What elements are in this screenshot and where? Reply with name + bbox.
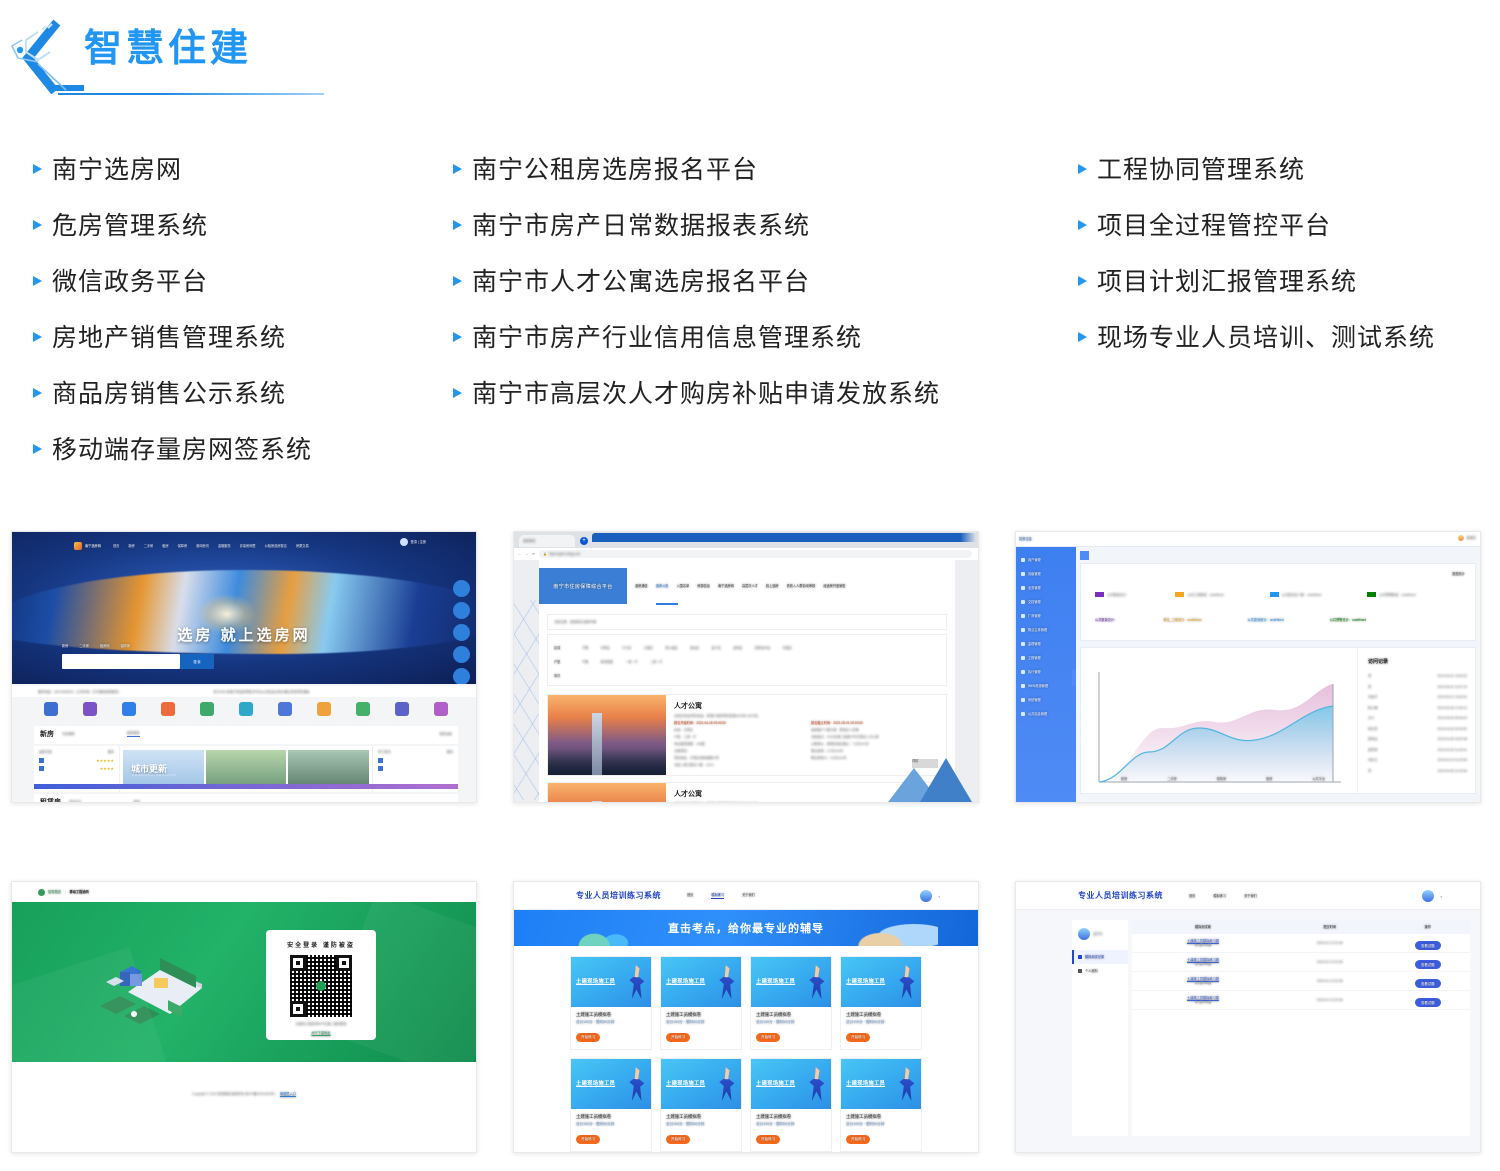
training-nav[interactable]: 首页 模拟练习 关于我们: [687, 893, 755, 899]
filter-option[interactable]: 青秀区: [600, 646, 610, 650]
system-link-label: 项目全过程管控平台: [1097, 206, 1331, 242]
system-link-label: 南宁选房网: [52, 150, 182, 186]
list-item[interactable]: ★★★★: [39, 766, 114, 771]
login-hero: 安全登录 谨防被盗 请使用工程协同APP扫描二维码登录 APP下载地址: [12, 902, 476, 1062]
nav-item[interactable]: 首页: [113, 544, 119, 548]
site-brand: 南宁市住房保障综合平台: [539, 568, 627, 604]
news-item[interactable]: [378, 766, 453, 771]
legend-entry: 公共预警数量：undefined: [1367, 592, 1415, 597]
screenshot-xuanfangwang[interactable]: 南宁选房网 首页 新房 二手房 租房 保障房 新闻资讯 金融服务 存量房网签 公…: [11, 531, 477, 803]
caret-right-icon: [1075, 274, 1097, 288]
nav-item[interactable]: 首页: [1189, 894, 1195, 898]
system-link-xmqgc[interactable]: 项目全过程管控平台: [1075, 196, 1495, 252]
window-controls[interactable]: [592, 533, 976, 542]
record-row: 林天贵2019-04-26 09:16:52: [1368, 724, 1467, 735]
record-name: 刘启平: [1368, 695, 1378, 699]
course-thumb-title: 土建现场施工员: [756, 977, 795, 985]
nav-item[interactable]: 二手房: [144, 544, 154, 548]
area-chart: 新房 二手房 保障房 租房 公共平台: [1081, 648, 1357, 793]
nav-item-active[interactable]: 模拟练习: [711, 893, 724, 899]
filter-option[interactable]: 邕宁区: [711, 646, 721, 650]
legend-label: 公共工单数量：undefined: [1187, 593, 1223, 597]
record-time: 2019-05-09 09:34:40: [1437, 716, 1467, 720]
course-card[interactable]: 土建现场施工员土建施工员模拟卷总分100分 · 限时60分钟开始练习: [660, 956, 742, 1050]
record-time: 2019-05-18 17:34:12: [1437, 706, 1467, 710]
quick-icon: [122, 702, 136, 716]
filter-option[interactable]: 二房一厅: [650, 660, 663, 664]
course-name: 土建施工员模拟卷: [846, 1012, 916, 1018]
caret-right-icon: [450, 162, 472, 176]
course-name: 土建施工员模拟卷: [846, 1114, 916, 1120]
nav-item[interactable]: 保障房: [178, 544, 188, 548]
listing-photo: [548, 783, 666, 802]
record-row: 李2019-05-24 13:37:24: [1368, 682, 1467, 693]
listing-field: 待出租房源数：148套: [674, 742, 801, 746]
system-link-label: 危房管理系统: [52, 206, 208, 242]
qr-code-image[interactable]: [290, 955, 352, 1017]
nav-item[interactable]: 南宁选房网: [718, 584, 734, 588]
record-time: 2019-05-24 13:37:24: [1437, 685, 1467, 689]
sidebar-item[interactable]: 用户管理: [1016, 553, 1076, 567]
side-icon-rent[interactable]: [453, 624, 470, 641]
course-thumb-title: 土建现场施工员: [846, 977, 885, 985]
quick-icon: [356, 702, 370, 716]
system-link-rcbb[interactable]: 南宁市房产日常数据报表系统: [450, 196, 1060, 252]
sidebar-item[interactable]: 监理管理: [1016, 637, 1076, 651]
chevron-down-icon[interactable]: ▾: [1440, 895, 1442, 899]
list-title: 最新开盘: [39, 750, 52, 754]
start-practice-button[interactable]: 开始练习: [666, 1135, 690, 1144]
browser-tab[interactable]: 选房报名: [519, 535, 575, 547]
system-link-pxcs[interactable]: 现场专业人员培训、测试系统: [1075, 308, 1495, 364]
notice-text: 关于2021年南宁商品房预售许可办公共信息业务办理业务暂停的通告: [213, 690, 309, 694]
sidebar-label: 省级管理: [1028, 572, 1041, 576]
course-card[interactable]: 土建现场施工员土建施工员模拟卷总分100分 · 限时60分钟开始练习: [750, 1058, 832, 1152]
record-name: 黄: [1368, 769, 1371, 773]
quick-icon: [434, 702, 448, 716]
course-thumb-title: 土建现场施工员: [576, 977, 615, 985]
hero-tab[interactable]: 租房网: [100, 644, 110, 648]
avatar: [1078, 928, 1090, 940]
nav-item[interactable]: 低收入人群自动审核: [787, 584, 816, 588]
caret-right-icon: [1075, 162, 1097, 176]
start-practice-button[interactable]: 开始练习: [666, 1033, 690, 1042]
person-illustration-icon: [899, 1067, 915, 1101]
decorative-mountains: [886, 754, 978, 802]
nav-item[interactable]: 入围名单: [677, 584, 690, 588]
course-name: 土建施工员模拟卷: [666, 1012, 736, 1018]
section-subtitle: 您的关注: [69, 800, 82, 803]
sidebar-item-records[interactable]: 模拟测试记录: [1072, 950, 1128, 964]
nav-item[interactable]: 新闻资讯: [196, 544, 209, 548]
caret-right-icon: [1075, 218, 1097, 232]
record-time: 2019-04-26 09:16:52: [1437, 727, 1467, 731]
course-card[interactable]: 土建现场施工员土建施工员模拟卷总分100分 · 限时60分钟开始练习: [570, 1058, 652, 1152]
section-title: 新房: [40, 729, 54, 739]
filter-option[interactable]: 良庆区: [690, 646, 700, 650]
course-sub: 总分100分 · 限时60分钟: [666, 1122, 736, 1127]
login-topbar: 智慧集团 | 移动工程协同: [12, 882, 476, 902]
system-link-label: 工程协同管理系统: [1097, 150, 1305, 186]
person-illustration-icon: [629, 1067, 645, 1101]
view-paper-button[interactable]: 查看试题: [1415, 979, 1441, 988]
title-underline: [58, 93, 324, 95]
menu-icon: [1021, 684, 1025, 688]
app-download-link[interactable]: APP下载地址: [266, 1031, 376, 1035]
person-illustration-icon: [899, 965, 915, 999]
avatar[interactable]: [920, 890, 932, 902]
nav-item[interactable]: 线上选房: [766, 584, 779, 588]
sidebar-item-profile[interactable]: 个人资料: [1072, 964, 1128, 978]
ad-strip[interactable]: [34, 784, 458, 789]
filter-row-layout[interactable]: 户型 不限 单间配套 一房一厅 二房一厅: [554, 655, 940, 669]
table-row[interactable]: 土建施工员模拟练习题共7题/100题 2020-8-3 12:31:56 查看试…: [1132, 953, 1470, 972]
filter-option[interactable]: 高新技术区: [755, 646, 771, 650]
system-link-label: 南宁市高层次人才购房补贴申请发放系统: [472, 374, 940, 410]
start-practice-button[interactable]: 开始练习: [576, 1135, 600, 1144]
filter-option[interactable]: 一房一厅: [625, 660, 638, 664]
view-paper-button[interactable]: 查看试题: [1415, 960, 1441, 969]
chart-x-labels: 新房 二手房 保障房 租房 公共平台: [1101, 777, 1345, 781]
rank-badge: [39, 758, 44, 763]
quick-icon: [200, 702, 214, 716]
sidebar-label: WEB资源管理: [1028, 684, 1048, 688]
course-thumb-title: 土建现场施工员: [576, 1079, 615, 1087]
nav-item[interactable]: 房源信息: [697, 584, 710, 588]
section-tab[interactable]: 租房: [134, 800, 140, 803]
qr-card-title: 安全登录 谨防被盗: [266, 940, 376, 949]
course-sub: 总分100分 · 限时60分钟: [846, 1122, 916, 1127]
filter-row-region[interactable]: 区域 不限 青秀区 兴宁区 江南区 西乡塘区 良庆区 邕宁区 武鸣区 高新技术区…: [554, 641, 940, 655]
record-name: 邵伟丛: [1368, 737, 1378, 741]
account-area[interactable]: 登录 | 注册: [400, 538, 426, 546]
login-register-link[interactable]: 登录 | 注册: [411, 540, 426, 544]
sidebar-label: 公共信息管理: [1028, 712, 1047, 716]
caret-right-icon: [30, 386, 52, 400]
system-link-label: 南宁公租房选房报名平台: [472, 150, 758, 186]
record-name: 陈小梅: [1368, 706, 1378, 710]
system-link-fdcxs[interactable]: 房地产销售管理系统: [30, 308, 450, 364]
page-title: 智慧住建: [84, 30, 252, 68]
listing-end-time: 报名截止时间：2021-05-01 00:00:00: [811, 721, 938, 725]
record-time: 2019-05-12 13:26:42: [1437, 695, 1467, 699]
view-paper-button[interactable]: 查看试题: [1415, 998, 1441, 1007]
system-link-gzf[interactable]: 南宁公租房选房报名平台: [450, 140, 1060, 196]
caret-right-icon: [30, 274, 52, 288]
access-records-panel: 访问记录 黄2019-06-02 13:05:32 李2019-05-24 13…: [1357, 648, 1475, 793]
list-icon: [1078, 955, 1082, 959]
user-area[interactable]: 管理员: [1458, 535, 1476, 541]
system-link-wxzw[interactable]: 微信政务平台: [30, 252, 450, 308]
sidebar-label: 个人资料: [1085, 969, 1098, 973]
record-row: 陈小梅2019-05-18 17:34:12: [1368, 703, 1467, 714]
sidebar-item[interactable]: WEB资源管理: [1016, 679, 1076, 693]
system-link-ydclf[interactable]: 移动端存量房网签系统: [30, 420, 450, 476]
filter-option[interactable]: 东盟区: [782, 646, 792, 650]
nav-item[interactable]: 关于我们: [742, 893, 755, 899]
notice-bar: 服务电话：18179405016（工作时间：打开通知和新服务） 关于2021年南…: [12, 686, 476, 697]
rank-badge: [39, 766, 44, 771]
sidebar-label: 系统管理: [1028, 698, 1041, 702]
news-text: [385, 766, 386, 771]
nav-item[interactable]: 房屋交易: [296, 544, 309, 548]
submit-time: 2020-8-3 12:31:56: [1274, 941, 1386, 945]
filter-panel[interactable]: 区域 不限 青秀区 兴宁区 江南区 西乡塘区 良庆区 邕宁区 武鸣区 高新技术区…: [547, 634, 947, 686]
section-rental-header: 租赁房 您的关注 租房: [34, 794, 458, 803]
listing-field: 当前批次：2021年第三批南宁市青秀区人才公寓: [811, 735, 938, 739]
menu-icon: [1021, 600, 1025, 604]
view-paper-button[interactable]: 查看试题: [1415, 941, 1441, 950]
start-practice-button[interactable]: 开始练习: [846, 1033, 870, 1042]
x-tick: 保障房: [1217, 777, 1227, 781]
course-thumb-title: 土建现场施工员: [666, 1079, 705, 1087]
sidebar-label: 用户管理: [1028, 558, 1041, 562]
promo-image-2[interactable]: [206, 750, 287, 788]
training-brand: 专业人员培训练习系统: [576, 890, 661, 901]
system-link-label: 南宁市房产行业信用信息管理系统: [472, 318, 862, 354]
legend-swatch: [1270, 592, 1279, 597]
back-icon[interactable]: ←: [518, 552, 521, 556]
new-tab-icon[interactable]: +: [580, 537, 588, 545]
sidebar-item[interactable]: 系统管理: [1016, 693, 1076, 707]
sidebar-item[interactable]: 物业主体管理: [1016, 623, 1076, 637]
quick-icon: [395, 702, 409, 716]
stat-values: 公共数量总计： 单位_工单总计：undefined 公共投诉统计：undefin…: [1095, 618, 1465, 622]
course-thumb-title: 土建现场施工员: [846, 1079, 885, 1087]
stat-value: 公共数量总计：: [1095, 618, 1117, 622]
tab-button[interactable]: [1080, 551, 1089, 560]
course-thumb-title: 土建现场施工员: [666, 977, 705, 985]
submit-time: 2020-8-3 12:31:56: [1274, 979, 1386, 983]
record-row: 黄2019-06-02 13:05:32: [1368, 671, 1467, 682]
side-icon-newhouse[interactable]: [453, 580, 470, 597]
x-tick: 公共平台: [1312, 777, 1325, 781]
site-logo-icon: [74, 542, 82, 550]
filter-option[interactable]: 武鸣区: [733, 646, 743, 650]
screenshot-gongcheng-dashboard[interactable]: 智慧住建 管理员 用户管理 省级管理 业务管理 文档管理 厂商管理 物业主体管理…: [1015, 531, 1481, 803]
sidebar-item[interactable]: 文档管理: [1016, 595, 1076, 609]
submit-time: 2020-8-3 12:31:56: [1274, 998, 1386, 1002]
nav-item[interactable]: 选房通告: [635, 584, 648, 588]
record-row: 刘启平2019-05-12 13:26:42: [1368, 692, 1467, 703]
course-sub: 总分100分 · 限时60分钟: [576, 1020, 646, 1025]
quick-icon: [317, 702, 331, 716]
sidebar-item[interactable]: 业务管理: [1016, 581, 1076, 595]
chart-and-records: 新房 二手房 保障房 租房 公共平台 访问记录 黄2019-06-02 13:0…: [1080, 647, 1476, 794]
system-link-xyxx[interactable]: 南宁市房产行业信用信息管理系统: [450, 308, 1060, 364]
nav-item[interactable]: 租房: [162, 544, 168, 548]
hero-tab[interactable]: 二手房: [79, 644, 89, 648]
reload-icon[interactable]: ⟳: [532, 552, 535, 556]
course-thumb: 土建现场施工员: [571, 1059, 651, 1109]
start-practice-button[interactable]: 开始练习: [756, 1135, 780, 1144]
legend-label: 公共预警数量：undefined: [1379, 593, 1415, 597]
course-card[interactable]: 土建现场施工员土建施工员模拟卷总分100分 · 限时60分钟开始练习: [750, 956, 832, 1050]
system-link-label: 商品房销售公示系统: [52, 374, 286, 410]
sidebar-item[interactable]: 公共信息管理: [1016, 707, 1076, 721]
system-link-spfgs[interactable]: 商品房销售公示系统: [30, 364, 450, 420]
list-item[interactable]: ★★★★★: [39, 758, 114, 763]
avatar[interactable]: [1422, 890, 1434, 902]
address-input[interactable]: 🔒 https://gzfx.nnfcjy.com: [539, 550, 972, 558]
sidebar-label: 厂商管理: [1028, 614, 1041, 618]
section-more-link[interactable]: 查看全部: [439, 732, 452, 736]
nav-item[interactable]: 关于我们: [1244, 894, 1257, 898]
menu-icon: [1021, 586, 1025, 590]
hotline-text: 服务电话：18179405016（工作时间：打开通知和新服务）: [38, 690, 121, 694]
course-thumb: 土建现场施工员: [571, 957, 651, 1007]
company-logo-icon: [38, 889, 45, 896]
browser-chrome: 选房报名 + ← → ⟳ 🔒 https://gzfx.nnfcjy.com: [514, 532, 978, 560]
system-link-nnxfw[interactable]: 南宁选房网: [30, 140, 450, 196]
hero-tabs[interactable]: 新房 二手房 租房网 保障房: [62, 644, 130, 648]
record-row: 邵伟丛2019-04-28 16:00:48: [1368, 734, 1467, 745]
course-card[interactable]: 土建现场施工员土建施工员模拟卷总分100分 · 限时60分钟开始练习: [570, 956, 652, 1050]
column-header-action: 操作: [1385, 925, 1470, 929]
caret-right-icon: [450, 330, 472, 344]
system-link-label: 南宁市房产日常数据报表系统: [472, 206, 810, 242]
nav-item[interactable]: 公租房选房报名: [265, 544, 287, 548]
records-body: 温开杰 模拟测试记录 个人资料 模拟测试卷 提交时间 操作 土建施工员模拟练习题…: [1016, 910, 1480, 1152]
course-sub: 总分100分 · 限时60分钟: [576, 1122, 646, 1127]
user-name: 温开杰: [1093, 932, 1103, 936]
sidebar-item[interactable]: 工程管理: [1016, 651, 1076, 665]
nav-item[interactable]: 存量房网签: [240, 544, 256, 548]
banner-text: 直击考点，给你最专业的辅导: [514, 910, 978, 946]
x-tick: 新房: [1121, 777, 1127, 781]
list-more[interactable]: 更多: [108, 750, 114, 754]
caret-right-icon: [450, 386, 472, 400]
nav-item[interactable]: 模拟练习: [1213, 894, 1226, 898]
person-illustration-icon: [719, 965, 735, 999]
section-tab[interactable]: 最新楼盘: [127, 731, 140, 737]
nav-item[interactable]: 新房: [128, 544, 134, 548]
training-nav[interactable]: 首页 模拟练习 关于我们: [1189, 894, 1257, 898]
quick-icon: [83, 702, 97, 716]
stat-value: 单位_工单总计：undefined: [1163, 618, 1201, 622]
section-subtitle: 为你推荐: [62, 732, 75, 736]
listing-field: 区域：青秀区: [674, 728, 801, 732]
nav-item[interactable]: 金融服务: [218, 544, 231, 548]
login-footer: Copyright © 2019 智慧集团 版权所有 桂ICP备20011531…: [12, 1082, 476, 1100]
breadcrumb: 当前位置：选房报名/选房列表: [547, 614, 947, 630]
sidebar-label: 文档管理: [1028, 600, 1041, 604]
url-text: https://gzfx.nnfcjy.com: [549, 552, 580, 556]
record-name: 韦在王: [1368, 758, 1378, 762]
legend-label: 公共投诉总人数：undefined: [1282, 593, 1322, 597]
filter-row-condition[interactable]: 条件: [554, 669, 940, 683]
table-row[interactable]: 土建施工员模拟练习题共7题/100题 2020-8-3 12:31:56 查看试…: [1132, 972, 1470, 991]
news-item[interactable]: [378, 758, 453, 763]
listing-title: 人才公寓: [674, 701, 938, 711]
records-sidebar[interactable]: 温开杰 模拟测试记录 个人资料: [1072, 920, 1128, 1136]
filter-option[interactable]: 单间配套: [600, 660, 613, 664]
nav-item[interactable]: 首页: [687, 893, 693, 899]
site-nav[interactable]: 选房通告 选房公告 入围名单 房源信息 南宁选房网 高层次人才 线上选房 低收入…: [635, 584, 846, 588]
sidebar-item[interactable]: 厂商管理: [1016, 609, 1076, 623]
filter-option[interactable]: 不限: [582, 646, 588, 650]
hero-tab[interactable]: 新房: [62, 644, 68, 648]
filter-option[interactable]: 不限: [582, 660, 588, 664]
course-card[interactable]: 土建现场施工员土建施工员模拟卷总分100分 · 限时60分钟开始练习: [660, 1058, 742, 1152]
column-header-paper: 模拟测试卷: [1132, 925, 1274, 929]
course-card[interactable]: 土建现场施工员土建施工员模拟卷总分100分 · 限时60分钟开始练习: [840, 956, 922, 1050]
url-bar[interactable]: ← → ⟳ 🔒 https://gzfx.nnfcjy.com: [514, 548, 978, 560]
search-button[interactable]: 搜 索: [180, 654, 214, 669]
nav-item[interactable]: 高层次人才: [742, 584, 758, 588]
star-rating-icon: ★★★★: [100, 766, 114, 771]
legend-entry: 公共投诉总人数：undefined: [1270, 592, 1322, 597]
filter-option[interactable]: 兴宁区: [622, 646, 632, 650]
system-link-gcxt[interactable]: 工程协同管理系统: [1075, 140, 1495, 196]
dashboard-sidebar[interactable]: 用户管理 省级管理 业务管理 文档管理 厂商管理 物业主体管理 监理管理 工程管…: [1016, 547, 1076, 802]
table-row[interactable]: 土建施工员模拟练习题共7题/100题 2020-8-3 12:31:56 查看试…: [1132, 991, 1470, 1010]
quick-icon: [161, 702, 175, 716]
system-name: 移动工程协同: [70, 890, 89, 894]
record-time: 2019-04-06 11:42:56: [1438, 769, 1467, 773]
search-input[interactable]: [62, 654, 180, 669]
legend-entry: 公共工单数量：undefined: [1175, 592, 1223, 597]
start-practice-button[interactable]: 开始练习: [846, 1135, 870, 1144]
screenshot-zhufangbaozhang[interactable]: 选房报名 + ← → ⟳ 🔒 https://gzfx.nnfcjy.com 南…: [513, 531, 979, 803]
qr-finder-icon: [290, 1001, 306, 1017]
section-newhouse-header: 新房 为你推荐 最新楼盘 查看全部: [34, 726, 458, 744]
screenshot-training-practice[interactable]: 专业人员培训练习系统 首页 模拟练习 关于我们 ▾ 直击考点，给你最专业的辅导 …: [513, 881, 979, 1153]
start-practice-button[interactable]: 开始练习: [756, 1033, 780, 1042]
paper-sub: 共7题/100题: [1132, 981, 1274, 985]
rank-badge: [378, 766, 383, 771]
course-sub: 总分100分 · 限时60分钟: [756, 1020, 826, 1025]
start-practice-button[interactable]: 开始练习: [576, 1033, 600, 1042]
screenshot-mobile-login[interactable]: 智慧集团 | 移动工程协同: [11, 881, 477, 1153]
system-link-wfgl[interactable]: 危房管理系统: [30, 196, 450, 252]
course-thumb: 土建现场施工员: [841, 1059, 921, 1109]
listing-start-time: 报名开始时间：2021-04-26 09:00:00: [674, 721, 801, 725]
sidebar-item[interactable]: 省级管理: [1016, 567, 1076, 581]
company-name: 智慧集团: [48, 890, 61, 894]
forward-icon[interactable]: →: [525, 552, 528, 556]
side-icon-affordable[interactable]: [453, 646, 470, 663]
promo-image-3[interactable]: [288, 750, 369, 788]
admin-entry-link[interactable]: 管理员入口: [280, 1092, 296, 1096]
hero-tab[interactable]: 保障房: [121, 644, 131, 648]
system-link-gcrc[interactable]: 南宁市高层次人才购房补贴申请发放系统: [450, 364, 1060, 420]
promo-image-urban-renewal[interactable]: 城市更新 CHENGSHIGENGXIN: [123, 750, 204, 788]
filter-option[interactable]: 西乡塘区: [665, 646, 678, 650]
system-link-xmjh[interactable]: 项目计划汇报管理系统: [1075, 252, 1495, 308]
screenshot-training-records[interactable]: 专业人员培训练习系统 首页 模拟练习 关于我们 ▾ 温开杰 模拟测试记录 个人资…: [1015, 881, 1481, 1153]
side-icon-secondhand[interactable]: [453, 602, 470, 619]
side-icon-contract[interactable]: [453, 668, 470, 685]
paper-sub: 共7题/100题: [1132, 943, 1274, 947]
nav-item[interactable]: 经适房开盘销售: [823, 584, 845, 588]
chevron-down-icon[interactable]: ▾: [938, 895, 940, 899]
promo-title-en: CHENGSHIGENGXIN: [132, 773, 177, 777]
nav-item-active[interactable]: 选房公告: [656, 584, 669, 588]
filter-option[interactable]: 江南区: [644, 646, 654, 650]
nav-menu[interactable]: 首页 新房 二手房 租房 保障房 新闻资讯 金融服务 存量房网签 公租房选房报名…: [113, 544, 309, 548]
qr-login-card[interactable]: 安全登录 谨防被盗 请使用工程协同APP扫描二维码登录 APP下载地址: [266, 930, 376, 1040]
caret-right-icon: [30, 442, 52, 456]
record-time: 2019-04-19 11:30:59: [1438, 758, 1467, 762]
sidebar-item[interactable]: 执行管理: [1016, 665, 1076, 679]
table-row[interactable]: 土建施工员模拟练习题共7题/100题 2020-8-3 12:31:56 查看试…: [1132, 934, 1470, 953]
hotnews-more[interactable]: 更多: [447, 750, 453, 754]
course-card[interactable]: 土建现场施工员土建施工员模拟卷总分100分 · 限时60分钟开始练习: [840, 1058, 922, 1152]
system-link-rcgy[interactable]: 南宁市人才公寓选房报名平台: [450, 252, 1060, 308]
sidebar-label: 工程管理: [1028, 656, 1041, 660]
course-name: 土建施工员模拟卷: [756, 1012, 826, 1018]
